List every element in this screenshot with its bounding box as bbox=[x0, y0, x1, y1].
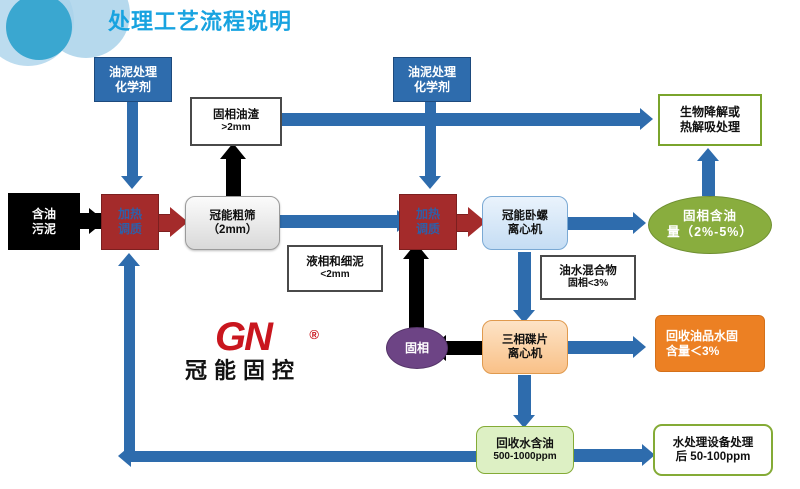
node-recovered-oil[interactable]: 回收油品水固 含量＜3% bbox=[655, 315, 765, 372]
edge-residue-to-biodeg-shaft bbox=[268, 113, 643, 126]
node-oil-water-mixture[interactable]: 油水混合物 固相<3% bbox=[540, 255, 636, 300]
edge-chem2-to-heat2-head bbox=[419, 176, 441, 189]
edge-decanter-to-solidoil-shaft bbox=[568, 217, 636, 230]
edge-solidoil-to-biodeg-head bbox=[697, 148, 719, 161]
edge-chem2-to-heat2-shaft bbox=[425, 100, 436, 178]
logo-mark: GN ® bbox=[163, 316, 323, 358]
edge-disc3-to-solidphase-shaft bbox=[446, 341, 482, 355]
company-logo: GN ® 冠能固控 bbox=[163, 316, 323, 388]
edge-solidphase-to-heat2-shaft bbox=[409, 255, 424, 335]
node-heat1[interactable]: 加热 调质 bbox=[101, 194, 159, 250]
node-decanter-centrifuge[interactable]: 冠能卧螺 离心机 bbox=[482, 196, 568, 250]
flowchart-canvas: 处理工艺流程说明 bbox=[0, 0, 800, 489]
edge-chem1-to-heat1-shaft bbox=[127, 100, 138, 178]
edge-recycle-vertical bbox=[124, 265, 135, 455]
logo-mark-text: GN bbox=[215, 315, 271, 359]
edge-disc3-to-recovwater-shaft bbox=[518, 375, 531, 419]
edge-recycle-corner-head bbox=[118, 445, 131, 467]
page-title: 处理工艺流程说明 bbox=[108, 4, 292, 36]
node-feed[interactable]: 含油 污泥 bbox=[8, 193, 80, 250]
node-heat2[interactable]: 加热 调质 bbox=[399, 194, 457, 250]
node-solid-phase[interactable]: 固相 bbox=[386, 327, 448, 369]
edge-recycle-to-heat1-head bbox=[118, 253, 140, 266]
registered-trademark-icon: ® bbox=[309, 314, 317, 356]
node-solid-oil-content[interactable]: 固相含油 量（2%-5%） bbox=[648, 196, 772, 254]
edge-recycle-horizontal bbox=[130, 451, 479, 462]
node-liquid-fine[interactable]: 液相和细泥 <2mm bbox=[287, 245, 383, 292]
node-biodegradation[interactable]: 生物降解或 热解吸处理 bbox=[658, 94, 762, 146]
node-chem2[interactable]: 油泥处理 化学剂 bbox=[393, 57, 471, 102]
edge-disc3-to-recovoil-shaft bbox=[568, 341, 636, 354]
edge-disc3-to-recovoil-head bbox=[633, 336, 646, 358]
node-chem1[interactable]: 油泥处理 化学剂 bbox=[94, 57, 172, 102]
node-coarse-screen[interactable]: 冠能粗筛 （2mm） bbox=[185, 196, 280, 250]
node-solid-residue[interactable]: 固相油渣 >2mm bbox=[190, 97, 282, 146]
edge-recovwater-to-treated-shaft bbox=[573, 449, 645, 462]
logo-company-name: 冠能固控 bbox=[163, 358, 323, 384]
node-treated-water[interactable]: 水处理设备处理 后 50-100ppm bbox=[653, 424, 773, 476]
edge-decanter-to-solidoil-head bbox=[633, 212, 646, 234]
edge-residue-to-biodeg-head bbox=[640, 108, 653, 130]
edge-solidoil-to-biodeg-shaft bbox=[702, 160, 715, 196]
edge-chem1-to-heat1-head bbox=[121, 176, 143, 189]
edge-decanter-to-disc3-shaft bbox=[518, 252, 531, 314]
node-recovered-water[interactable]: 回收水含油 500-1000ppm bbox=[476, 426, 574, 474]
node-three-phase-disc-centrifuge[interactable]: 三相碟片 离心机 bbox=[482, 320, 568, 374]
edge-coarse-to-heat2-shaft bbox=[278, 215, 400, 228]
